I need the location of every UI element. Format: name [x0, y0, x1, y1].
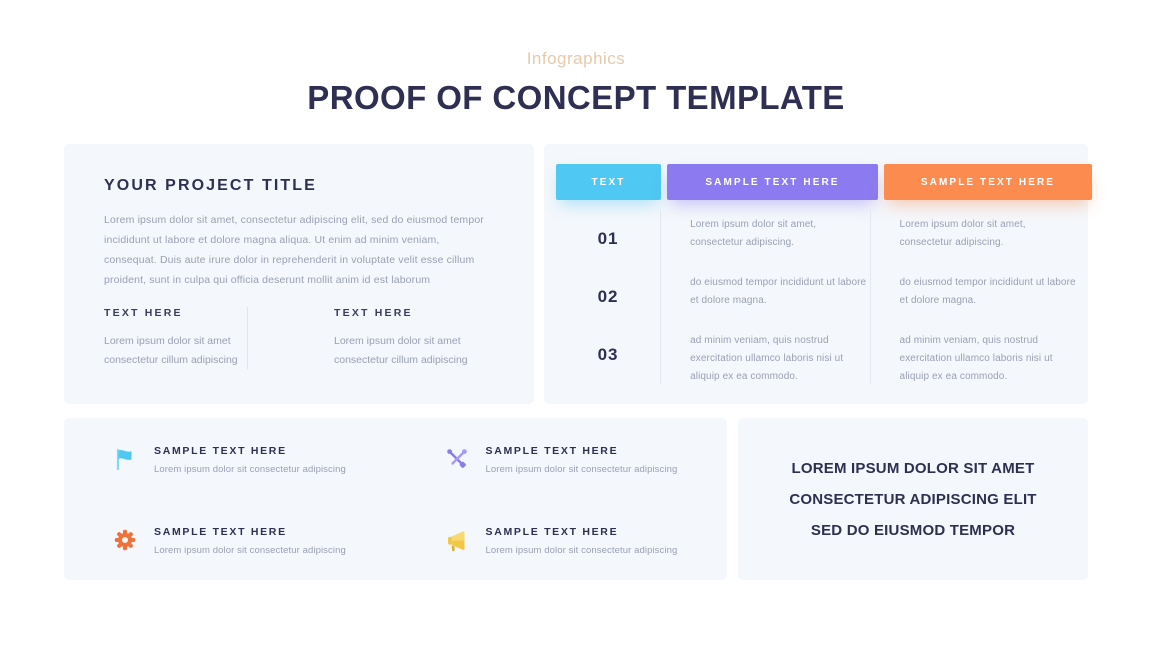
- feature-title: SAMPLE TEXT HERE: [486, 526, 678, 538]
- subsection-group: TEXT HERE Lorem ipsum dolor sit amet con…: [104, 307, 496, 370]
- subsection-item: TEXT HERE Lorem ipsum dolor sit amet con…: [300, 307, 496, 370]
- tab-sample-text-here-1[interactable]: SAMPLE TEXT HERE: [667, 164, 878, 200]
- table-body: 01 02 03 Lorem ipsum dolor sit amet, con…: [556, 210, 1076, 384]
- row-number: 02: [556, 268, 660, 326]
- table-cell: ad minim veniam, quis nostrud exercitati…: [900, 326, 1076, 384]
- megaphone-icon: [440, 523, 474, 557]
- table-column-numbers: 01 02 03: [556, 210, 660, 384]
- subsection-title: TEXT HERE: [104, 307, 300, 319]
- table-cell: ad minim veniam, quis nostrud exercitati…: [690, 326, 869, 384]
- table-header-tabs: TEXT SAMPLE TEXT HERE SAMPLE TEXT HERE: [556, 164, 1092, 200]
- tab-text[interactable]: TEXT: [556, 164, 661, 200]
- table-column-2: Lorem ipsum dolor sit amet, consectetur …: [870, 210, 1076, 384]
- feature-title: SAMPLE TEXT HERE: [154, 526, 346, 538]
- project-description: Lorem ipsum dolor sit amet, consectetur …: [104, 210, 494, 290]
- table-cell: do eiusmod tempor incididunt ut labore e…: [900, 268, 1076, 326]
- project-panel: YOUR PROJECT TITLE Lorem ipsum dolor sit…: [64, 144, 534, 404]
- tab-sample-text-here-2[interactable]: SAMPLE TEXT HERE: [884, 164, 1092, 200]
- features-grid: SAMPLE TEXT HERE Lorem ipsum dolor sit c…: [64, 418, 727, 580]
- feature-item-tools[interactable]: SAMPLE TEXT HERE Lorem ipsum dolor sit c…: [396, 418, 728, 499]
- slide-canvas: Infographics PROOF OF CONCEPT TEMPLATE Y…: [0, 0, 1152, 648]
- feature-text: SAMPLE TEXT HERE Lorem ipsum dolor sit c…: [154, 524, 346, 556]
- feature-title: SAMPLE TEXT HERE: [154, 445, 346, 457]
- feature-item-flag[interactable]: SAMPLE TEXT HERE Lorem ipsum dolor sit c…: [64, 418, 396, 499]
- statement-line: LOREM IPSUM DOLOR SIT AMET: [792, 453, 1035, 484]
- gear-icon: [108, 523, 142, 557]
- statement-block: LOREM IPSUM DOLOR SIT AMET CONSECTETUR A…: [738, 418, 1088, 580]
- slide-header: Infographics PROOF OF CONCEPT TEMPLATE: [0, 48, 1152, 118]
- table-cell: Lorem ipsum dolor sit amet, consectetur …: [690, 210, 869, 268]
- feature-description: Lorem ipsum dolor sit consectetur adipis…: [486, 464, 678, 475]
- feature-title: SAMPLE TEXT HERE: [486, 445, 678, 457]
- table-cell: do eiusmod tempor incididunt ut labore e…: [690, 268, 869, 326]
- row-number: 03: [556, 326, 660, 384]
- tools-icon: [440, 442, 474, 476]
- flag-icon: [108, 442, 142, 476]
- feature-item-gear[interactable]: SAMPLE TEXT HERE Lorem ipsum dolor sit c…: [64, 499, 396, 580]
- statement-line: SED DO EIUSMOD TEMPOR: [811, 515, 1015, 546]
- project-title: YOUR PROJECT TITLE: [104, 177, 317, 195]
- table-cell: Lorem ipsum dolor sit amet, consectetur …: [900, 210, 1076, 268]
- table-panel: TEXT SAMPLE TEXT HERE SAMPLE TEXT HERE 0…: [544, 144, 1088, 404]
- statement-panel: LOREM IPSUM DOLOR SIT AMET CONSECTETUR A…: [738, 418, 1088, 580]
- column-divider: [870, 210, 871, 384]
- feature-text: SAMPLE TEXT HERE Lorem ipsum dolor sit c…: [486, 443, 678, 475]
- feature-description: Lorem ipsum dolor sit consectetur adipis…: [154, 545, 346, 556]
- feature-text: SAMPLE TEXT HERE Lorem ipsum dolor sit c…: [486, 524, 678, 556]
- subsection-item: TEXT HERE Lorem ipsum dolor sit amet con…: [104, 307, 300, 370]
- column-divider: [660, 210, 661, 384]
- feature-text: SAMPLE TEXT HERE Lorem ipsum dolor sit c…: [154, 443, 346, 475]
- subsection-body: Lorem ipsum dolor sit amet consectetur c…: [334, 332, 489, 370]
- page-title: PROOF OF CONCEPT TEMPLATE: [0, 78, 1152, 118]
- eyebrow-label: Infographics: [0, 48, 1152, 70]
- row-number: 01: [556, 210, 660, 268]
- subsection-body: Lorem ipsum dolor sit amet consectetur c…: [104, 332, 259, 370]
- feature-description: Lorem ipsum dolor sit consectetur adipis…: [154, 464, 346, 475]
- statement-line: CONSECTETUR ADIPISCING ELIT: [789, 484, 1036, 515]
- feature-item-megaphone[interactable]: SAMPLE TEXT HERE Lorem ipsum dolor sit c…: [396, 499, 728, 580]
- feature-description: Lorem ipsum dolor sit consectetur adipis…: [486, 545, 678, 556]
- table-column-1: Lorem ipsum dolor sit amet, consectetur …: [660, 210, 869, 384]
- subsection-title: TEXT HERE: [334, 307, 496, 319]
- features-panel: SAMPLE TEXT HERE Lorem ipsum dolor sit c…: [64, 418, 727, 580]
